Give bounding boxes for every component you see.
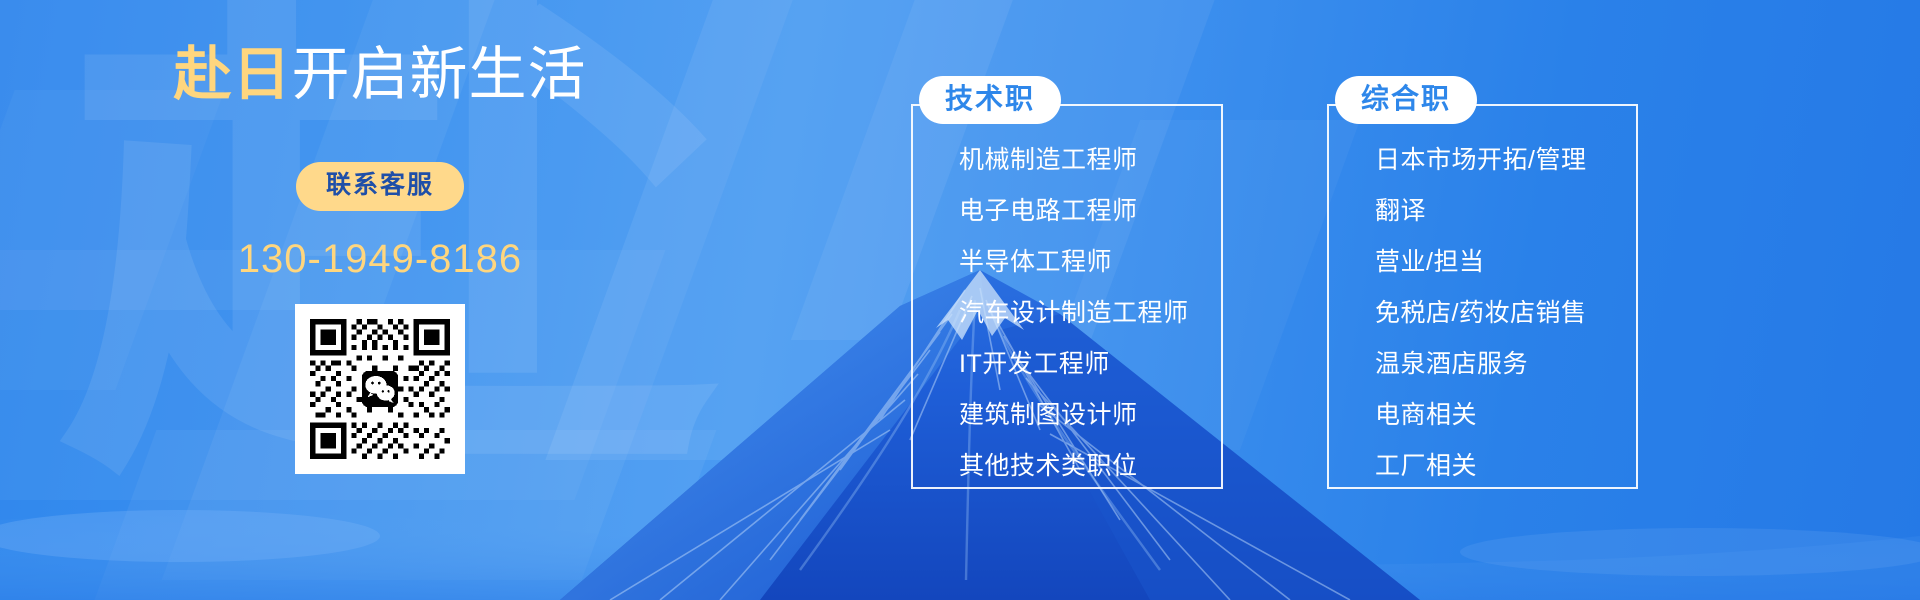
promo-banner: 赴 bbox=[0, 0, 1920, 600]
job-panel-tech: 技术职 机械制造工程师 电子电路工程师 半导体工程师 汽车设计制造工程师 IT开… bbox=[911, 76, 1223, 505]
list-item[interactable]: 营业/担当 bbox=[1375, 250, 1638, 275]
list-item[interactable]: 电子电路工程师 bbox=[959, 199, 1223, 224]
list-item[interactable]: 机械制造工程师 bbox=[959, 148, 1223, 173]
panel-badge-tech: 技术职 bbox=[919, 76, 1061, 124]
list-item[interactable]: 建筑制图设计师 bbox=[959, 403, 1223, 428]
contact-support-button[interactable]: 联系客服 bbox=[296, 162, 464, 211]
list-item[interactable]: 半导体工程师 bbox=[959, 250, 1223, 275]
list-item[interactable]: IT开发工程师 bbox=[959, 352, 1223, 377]
list-item[interactable]: 其他技术类职位 bbox=[959, 454, 1223, 479]
job-panel-general: 综合职 日本市场开拓/管理 翻译 营业/担当 免税店/药妆店销售 温泉酒店服务 … bbox=[1327, 76, 1638, 505]
list-item[interactable]: 免税店/药妆店销售 bbox=[1375, 301, 1638, 326]
list-item[interactable]: 汽车设计制造工程师 bbox=[959, 301, 1223, 326]
headline-rest: 开启新生活 bbox=[292, 42, 587, 107]
job-list-general: 日本市场开拓/管理 翻译 营业/担当 免税店/药妆店销售 温泉酒店服务 电商相关… bbox=[1327, 76, 1638, 479]
list-item[interactable]: 温泉酒店服务 bbox=[1375, 352, 1638, 377]
list-item[interactable]: 翻译 bbox=[1375, 199, 1638, 224]
wechat-qr-code[interactable] bbox=[295, 304, 465, 474]
phone-number[interactable]: 130-1949-8186 bbox=[238, 237, 522, 282]
contact-column: 赴日开启新生活 联系客服 130-1949-8186 bbox=[0, 0, 760, 600]
page-title: 赴日开启新生活 bbox=[173, 46, 586, 104]
list-item[interactable]: 日本市场开拓/管理 bbox=[1375, 148, 1638, 173]
headline-accent: 赴日 bbox=[173, 42, 291, 107]
list-item[interactable]: 电商相关 bbox=[1375, 403, 1638, 428]
job-list-tech: 机械制造工程师 电子电路工程师 半导体工程师 汽车设计制造工程师 IT开发工程师… bbox=[911, 76, 1223, 479]
qr-code-image bbox=[305, 314, 455, 464]
list-item[interactable]: 工厂相关 bbox=[1375, 454, 1638, 479]
wechat-icon bbox=[362, 371, 398, 407]
panel-badge-general: 综合职 bbox=[1335, 76, 1477, 124]
